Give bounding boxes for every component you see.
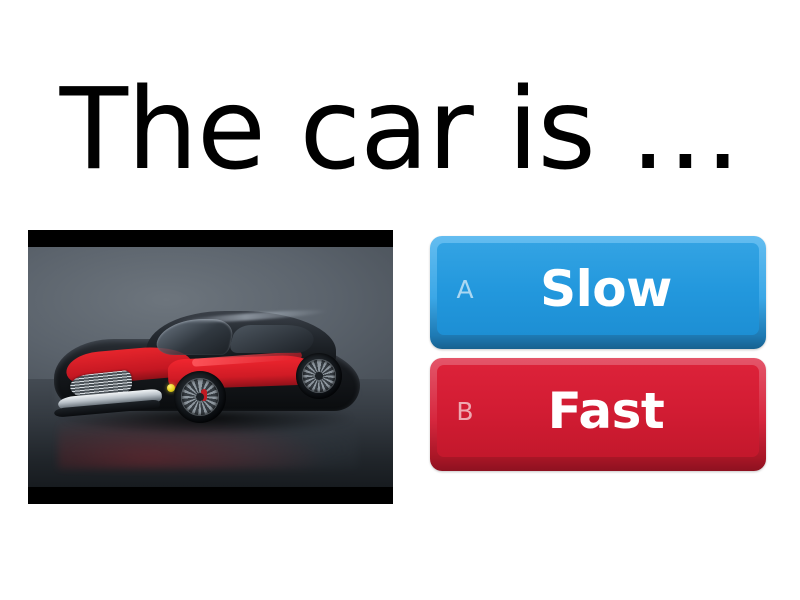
car-rear-hub <box>315 372 323 380</box>
car-rear-rim <box>303 360 334 391</box>
car-front-rim <box>182 379 217 414</box>
answer-option-a-face[interactable]: A Slow <box>437 243 759 335</box>
answer-letter-a: A <box>437 277 493 302</box>
car-side-window <box>228 325 318 353</box>
answer-options: A Slow B Fast <box>430 236 766 480</box>
car-front-wheel <box>174 371 226 423</box>
answer-label-a: Slow <box>493 264 759 314</box>
car-illustration <box>50 305 368 435</box>
answer-label-b: Fast <box>493 386 759 436</box>
page-title: The car is … <box>0 72 800 190</box>
quiz-slide: The car is … <box>0 0 800 600</box>
car-rear-wheel <box>296 353 342 399</box>
answer-option-b[interactable]: B Fast <box>430 358 766 471</box>
answer-option-a[interactable]: A Slow <box>430 236 766 349</box>
question-image <box>28 230 393 504</box>
answer-letter-b: B <box>437 399 493 424</box>
sports-car-photo <box>28 247 393 487</box>
answer-option-b-face[interactable]: B Fast <box>437 365 759 457</box>
